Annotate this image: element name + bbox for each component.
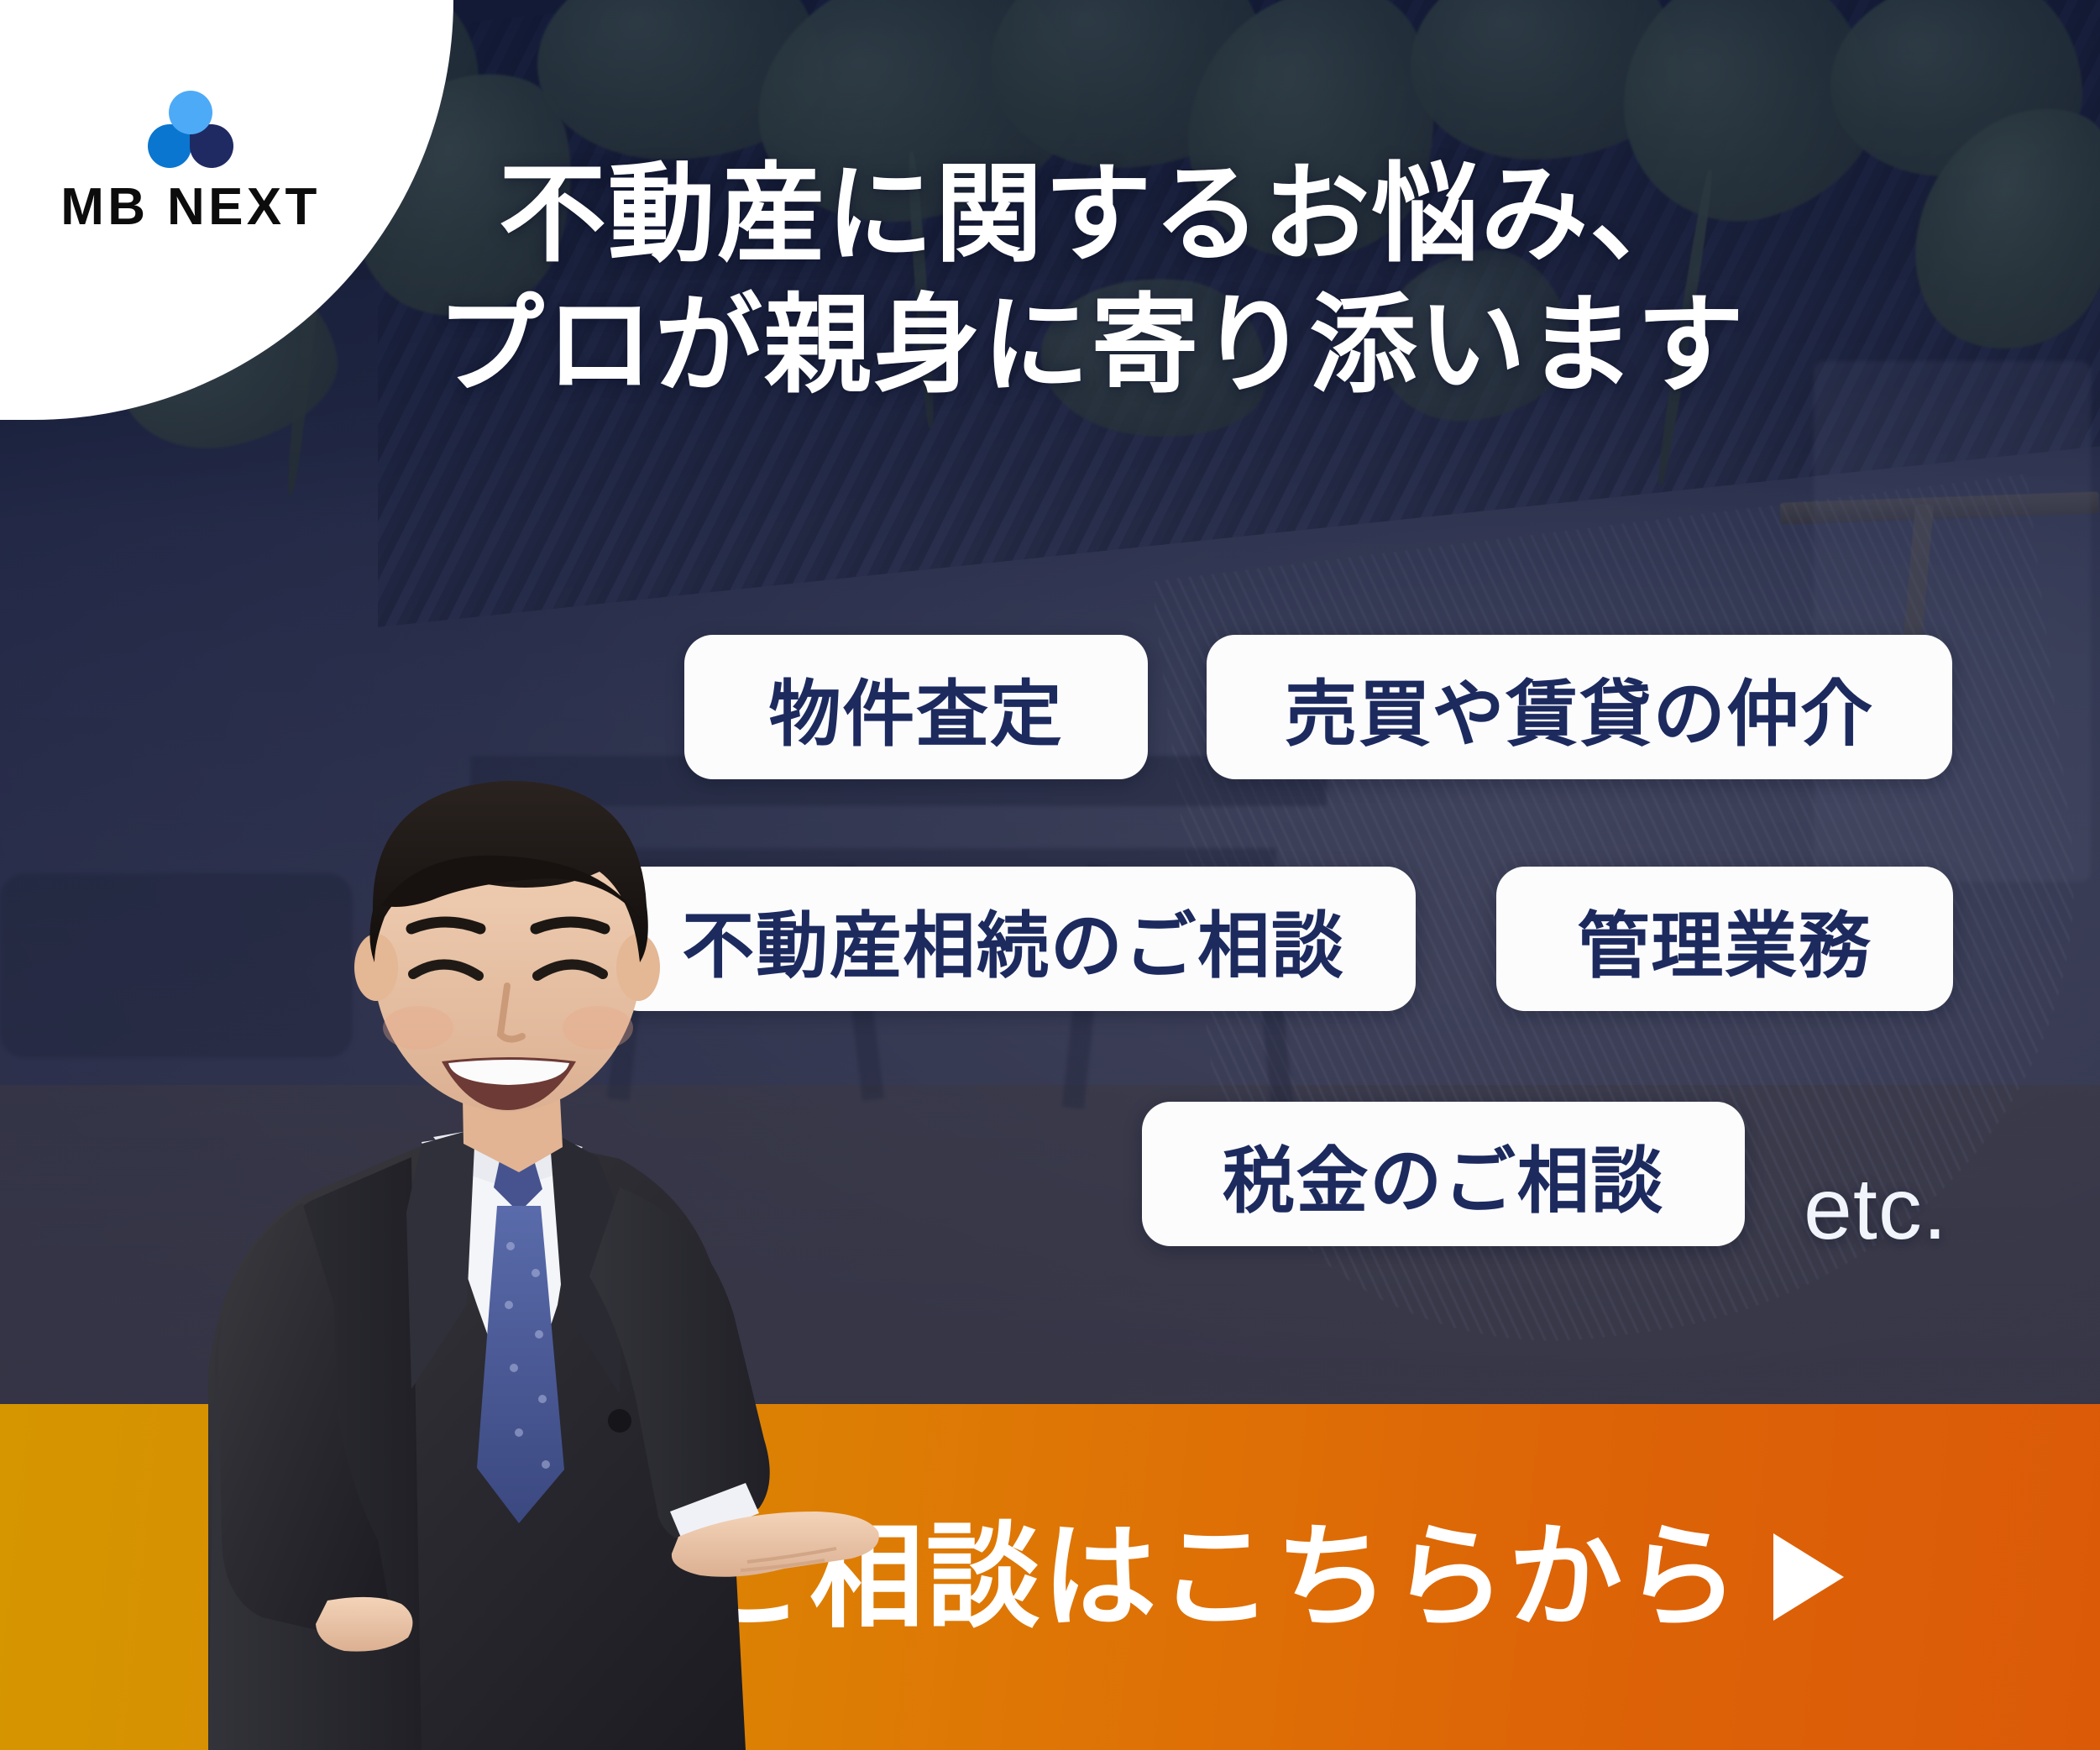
service-chip-label: 売買や賃貸の仲介	[1285, 655, 1874, 760]
service-chip-sales-rental-brokerage[interactable]: 売買や賃貸の仲介	[1207, 635, 1952, 779]
service-chip-label: 不動産相続のご相談	[682, 887, 1344, 992]
service-chip-label: 物件査定	[769, 655, 1064, 760]
service-chip-tax-consultation[interactable]: 税金のご相談	[1142, 1102, 1745, 1246]
service-chip-label: 管理業務	[1578, 887, 1872, 992]
logo-circle-top-icon	[169, 91, 212, 134]
service-chip-inheritance-consultation[interactable]: 不動産相続のご相談	[611, 867, 1416, 1011]
brand-wordmark: MB NEXT	[52, 181, 329, 233]
service-chip-label: 税金のご相談	[1223, 1122, 1664, 1227]
etc-label: etc.	[1804, 1166, 1948, 1253]
brand-logo[interactable]: MB NEXT	[52, 91, 329, 233]
service-chip-property-appraisal[interactable]: 物件査定	[684, 635, 1148, 779]
service-chip-group: 物件査定 売買や賃貸の仲介 不動産相続のご相談 管理業務 税金のご相談	[0, 0, 2100, 1750]
service-chip-management-services[interactable]: 管理業務	[1496, 867, 1953, 1011]
three-circle-mark-icon	[146, 91, 235, 171]
promo-banner: ご相談はこちらから 物件査定 売買や賃貸の仲介 不動産相続のご相談 管理業務 税…	[0, 0, 2100, 1750]
